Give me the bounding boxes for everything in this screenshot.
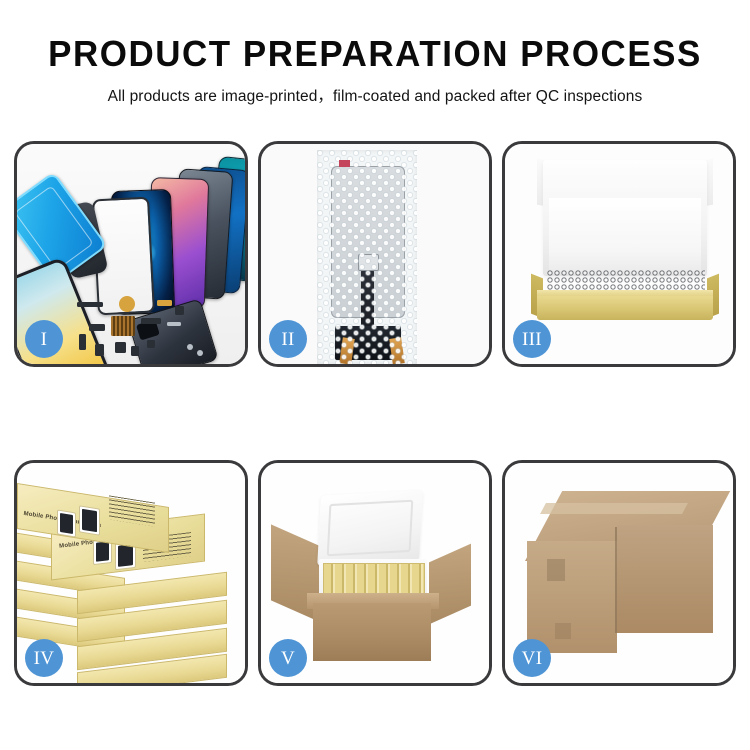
process-step-panel-i[interactable]: I	[14, 141, 248, 367]
carton-corner-seam	[615, 527, 617, 633]
carton-left-face	[527, 541, 617, 653]
bubble-wrap-bag	[317, 150, 417, 364]
spare-parts-cluster	[71, 296, 211, 364]
step-badge-ii: II	[269, 320, 307, 358]
lcd-red-label	[339, 160, 350, 167]
page-title: PRODUCT PREPARATION PROCESS	[11, 0, 739, 75]
process-step-panel-v[interactable]: V	[258, 460, 492, 686]
step-badge-vi: VI	[513, 639, 551, 677]
step-badge-iv: IV	[25, 639, 63, 677]
carton-front-panel	[313, 603, 431, 661]
carton-tab-upper	[547, 559, 565, 581]
step-badge-i: I	[25, 320, 63, 358]
process-step-panel-iv[interactable]: Mobile Phone Spare Parts Mobile Phone Sp…	[14, 460, 248, 686]
tray-front-kraft	[537, 296, 713, 320]
carton-tab-lower	[555, 623, 571, 639]
process-step-panel-ii[interactable]: II	[258, 141, 492, 367]
process-step-grid: I II	[14, 141, 736, 686]
process-step-panel-vi[interactable]: VI	[502, 460, 736, 686]
process-step-panel-iii[interactable]: III	[502, 141, 736, 367]
step-badge-iii: III	[513, 320, 551, 358]
page-subtitle: All products are image-printed，film-coat…	[0, 75, 750, 106]
foam-padding-slab	[549, 198, 701, 274]
carton-right-face	[617, 525, 713, 633]
carton-sealing-tape	[540, 503, 688, 514]
foam-box-lid	[317, 490, 423, 566]
step-badge-v: V	[269, 639, 307, 677]
bubble-texture	[317, 150, 417, 364]
page-header: PRODUCT PREPARATION PROCESS All products…	[0, 0, 750, 106]
